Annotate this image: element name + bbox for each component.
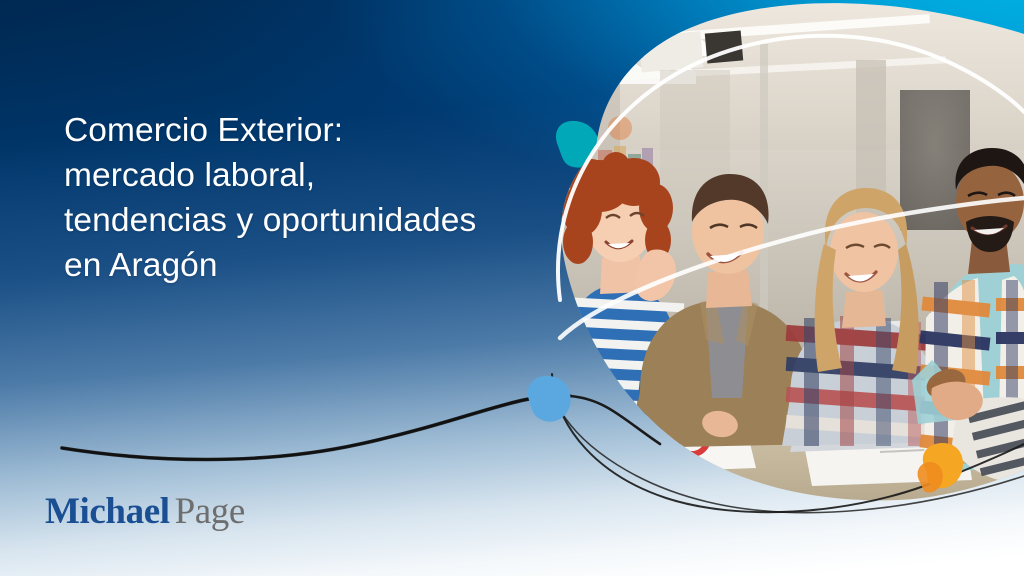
blob-edge-line-icon (552, 374, 1024, 513)
title-line-4: en Aragón (64, 243, 564, 288)
slide-canvas: Comercio Exterior: mercado laboral, tend… (0, 0, 1024, 576)
petal-light-blue-icon (528, 376, 571, 422)
michael-page-logo: MichaelPage (45, 493, 245, 530)
logo-page-text: Page (175, 493, 245, 530)
title-line-3: tendencias y oportunidades (64, 198, 564, 243)
blob-outline-arc-icon (558, 36, 1024, 338)
title-line-1: Comercio Exterior: (64, 108, 564, 153)
logo-michael-text: Michael (45, 493, 170, 530)
page-title: Comercio Exterior: mercado laboral, tend… (64, 108, 564, 288)
petal-orange-icon (918, 443, 963, 493)
title-line-2: mercado laboral, (64, 153, 564, 198)
decoration-layer-front (0, 0, 1024, 576)
